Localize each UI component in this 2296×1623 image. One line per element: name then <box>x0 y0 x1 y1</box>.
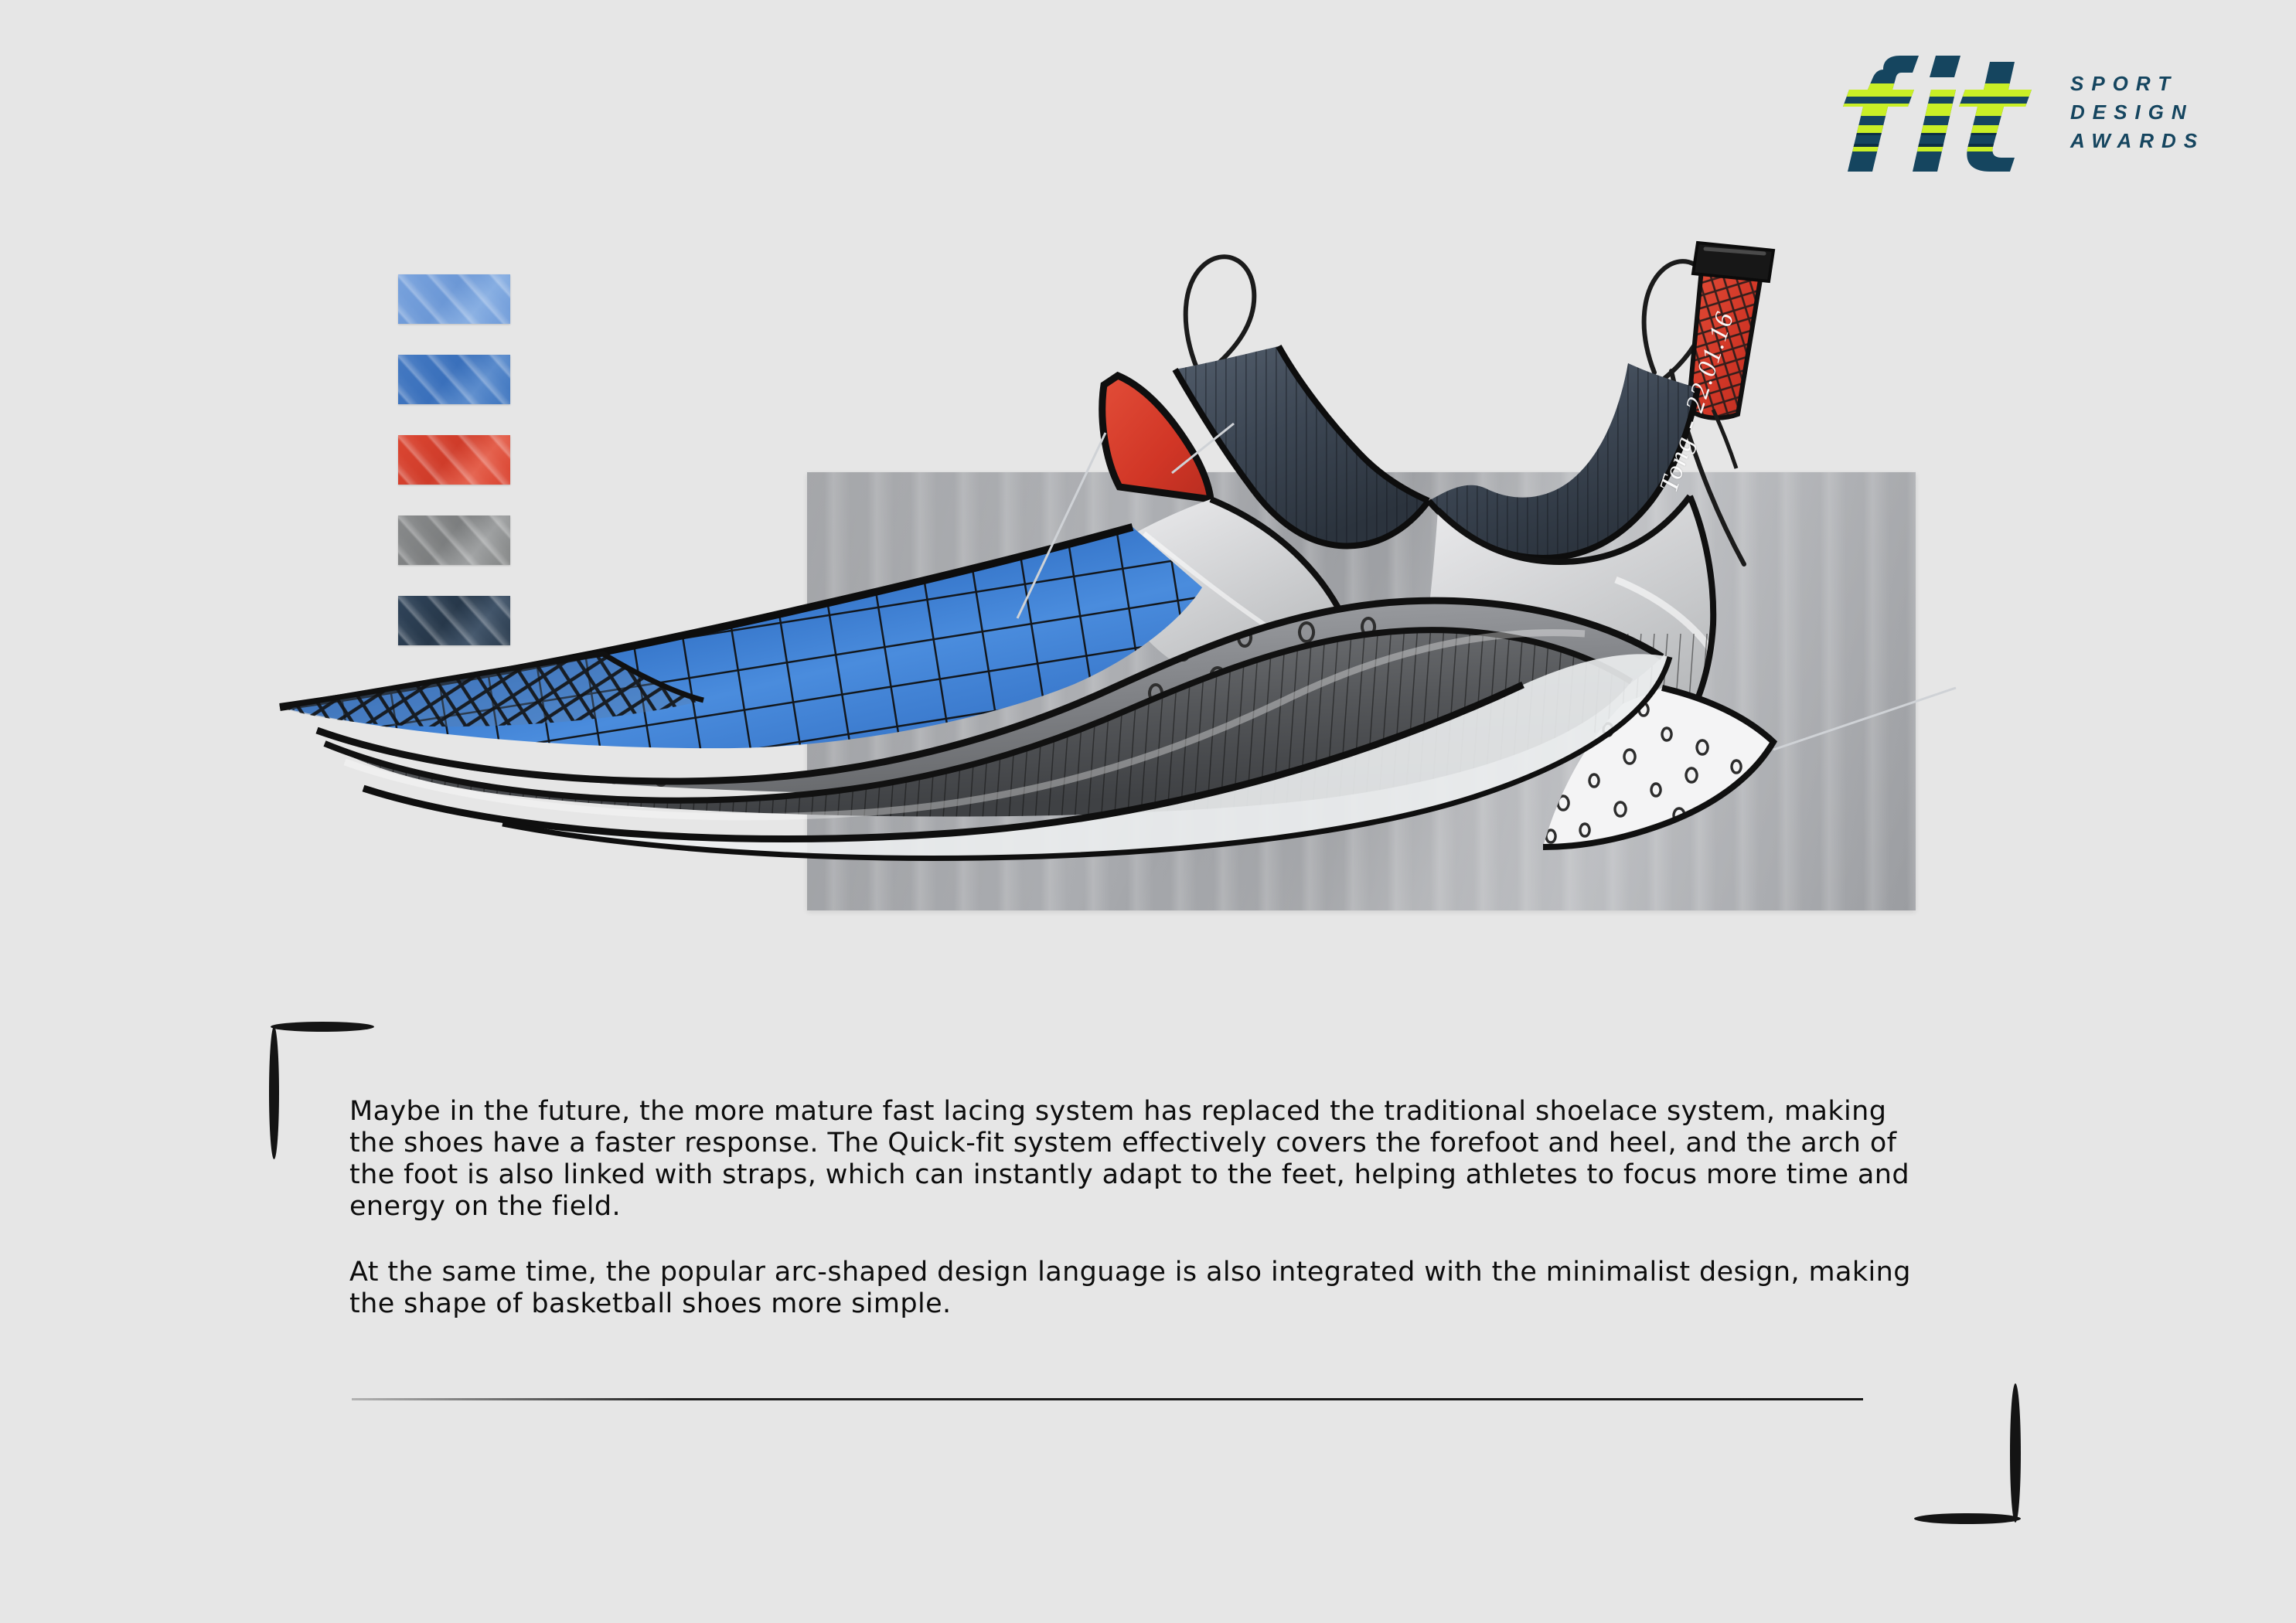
fit-sport-design-awards-logo: SPORT DESIGN AWARDS <box>1838 56 2240 172</box>
design-board-page: SPORT DESIGN AWARDS <box>0 0 2296 1623</box>
bottom-right-bracket <box>1917 1383 2041 1538</box>
logo-word-design: DESIGN <box>2070 98 2240 127</box>
shoe-sketch-stage: Tong - 22.01.16 <box>271 255 1971 974</box>
paragraph-1: Maybe in the future, the more mature fas… <box>349 1096 1911 1223</box>
paragraph-2: At the same time, the popular arc-shaped… <box>349 1257 1911 1320</box>
logo-word-sport: SPORT <box>2070 70 2240 98</box>
logo-wordmark: SPORT DESIGN AWARDS <box>2070 70 2240 155</box>
logo-word-awards: AWARDS <box>2070 127 2240 155</box>
horizontal-divider <box>352 1398 1863 1400</box>
fit-logo-mark <box>1838 56 2055 172</box>
description-text-block: Maybe in the future, the more mature fas… <box>349 1096 1911 1320</box>
